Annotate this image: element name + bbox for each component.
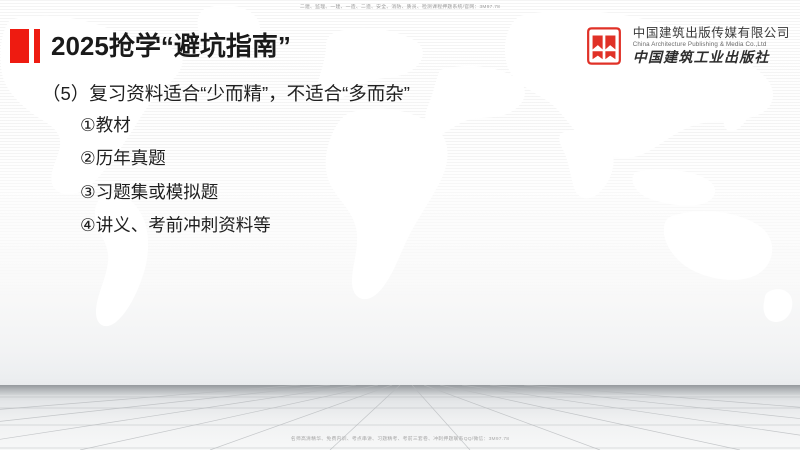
slide-canvas: 二建、监理、一建、一造、二造、安全、消防、质员、检测课程押题系统/官网：3M97…: [0, 0, 800, 450]
slide-body: （5）复习资料适合“少而精”，不适合“多而杂” ①教材 ②历年真题 ③习题集或模…: [42, 82, 682, 251]
page-title: 2025抢学“避坑指南”: [51, 33, 291, 59]
publisher-company-en: China Architecture Publishing & Media Co…: [633, 42, 790, 49]
watermark-top: 二建、监理、一建、一造、二造、安全、消防、质员、检测课程押题系统/官网：3M97…: [0, 4, 800, 10]
list-item: ③习题集或模拟题: [42, 184, 682, 202]
watermark-bottom: 名师高清精华、免费内训、考点串讲、习题精考、考前三套卷、冲刺押题联系QQ/微信：…: [0, 436, 800, 442]
publisher-company-cn: 中国建筑出版传媒有限公司: [633, 26, 790, 40]
publisher-logo: 中国建筑出版传媒有限公司 China Architecture Publishi…: [582, 24, 790, 68]
accent-block-icon: [10, 29, 29, 63]
body-item-list: ①教材 ②历年真题 ③习题集或模拟题 ④讲义、考前冲刺资料等: [42, 117, 682, 235]
list-item: ④讲义、考前冲刺资料等: [42, 217, 682, 235]
slide-header: 2025抢学“避坑指南”: [0, 26, 291, 66]
open-book-logo-icon: [582, 24, 626, 68]
body-lead-line: （5）复习资料适合“少而精”，不适合“多而杂”: [42, 82, 682, 107]
list-item: ①教材: [42, 117, 682, 135]
accent-bar-icon: [34, 29, 40, 63]
publisher-imprint-cn: 中国建筑工业出版社: [633, 50, 790, 66]
publisher-logo-text: 中国建筑出版传媒有限公司 China Architecture Publishi…: [633, 26, 790, 65]
list-item: ②历年真题: [42, 150, 682, 168]
